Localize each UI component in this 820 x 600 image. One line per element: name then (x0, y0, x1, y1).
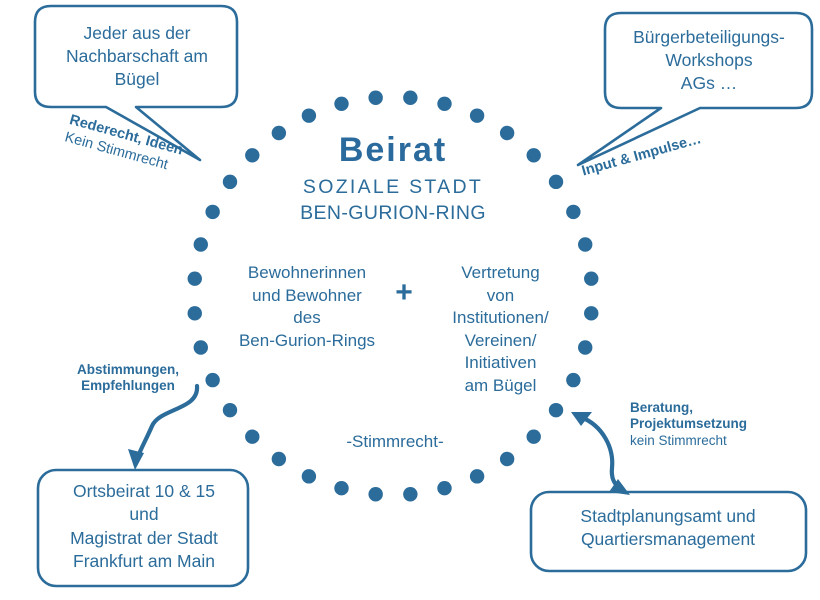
ring-dot (437, 481, 451, 495)
ring-dot (549, 403, 563, 417)
diagram-canvas: Jeder aus der Nachbarschaft am Bügel Red… (0, 0, 820, 600)
box-ortsbeirat-text: Ortsbeirat 10 & 15 und Magistrat der Sta… (46, 480, 242, 574)
ring-dot (584, 271, 598, 285)
arrow-abstimmungen (137, 386, 197, 459)
speech-bubble-top-right-text: Bürgerbeteiligungs- Workshops AGs … (610, 26, 808, 95)
ring-dot (584, 306, 598, 320)
ring-dot (302, 108, 316, 122)
ring-dot (470, 108, 484, 122)
ring-dot (566, 205, 580, 219)
plus-icon: + (390, 275, 418, 312)
ring-dot (205, 205, 219, 219)
ring-dot (549, 175, 563, 189)
ring-dot (194, 340, 208, 354)
ring-dot (245, 148, 259, 162)
ring-dot (403, 487, 417, 501)
ring-dot (527, 430, 541, 444)
ring-dot (188, 271, 202, 285)
annotation-input-impulse: Input & Impulse… (580, 119, 749, 181)
ring-dot (500, 126, 514, 140)
ring-dot (302, 469, 316, 483)
ring-dot (334, 481, 348, 495)
annotation-input-impulse-bold: Input & Impulse… (580, 119, 749, 181)
ring-dot (334, 97, 348, 111)
ring-dot (437, 97, 451, 111)
ring-dot (500, 452, 514, 466)
center-subtitle-soziale-stadt: SOZIALE STADT (273, 176, 513, 200)
center-column-vertretung: Vertretung von Institutionen/ Vereinen/ … (428, 262, 573, 398)
ring-dot (245, 430, 259, 444)
arrow-beratung-head-up (571, 412, 592, 426)
annotation-abstimmungen: Abstimmungen, Empfehlungen (48, 362, 208, 395)
annotation-beratung-normal: kein Stimmrecht (630, 433, 805, 449)
ring-dot (470, 469, 484, 483)
annotation-abstimmungen-bold: Abstimmungen, Empfehlungen (48, 362, 208, 395)
center-title: Beirat (293, 130, 493, 171)
ring-dot (223, 175, 237, 189)
center-column-bewohner: Bewohnerinnen und Bewohner des Ben-Gurio… (222, 262, 392, 352)
speech-bubble-top-left-text: Jeder aus der Nachbarschaft am Bügel (42, 22, 232, 91)
annotation-beratung: Beratung, Projektumsetzung kein Stimmrec… (630, 400, 805, 449)
ring-dot (368, 487, 382, 501)
annotation-rederecht: Rederecht, Ideen Kein Stimmrecht (63, 112, 227, 189)
box-stadtplanungsamt-text: Stadtplanungsamt und Quartiersmanagement (540, 505, 796, 552)
arrow-beratung-head-down (609, 479, 630, 495)
ring-dot (578, 340, 592, 354)
arrow-abstimmungen-head (128, 449, 144, 470)
ring-dot (403, 91, 417, 105)
center-footer-stimmrecht: -Stimmrecht- (325, 432, 465, 453)
ring-dot (194, 237, 208, 251)
arrow-beratung (581, 417, 619, 488)
ring-dot (188, 306, 202, 320)
ring-dot (272, 126, 286, 140)
ring-dot (368, 91, 382, 105)
annotation-beratung-bold: Beratung, Projektumsetzung (630, 400, 805, 433)
ring-dot (223, 403, 237, 417)
ring-dot (527, 148, 541, 162)
ring-dot (578, 237, 592, 251)
ring-dot (272, 452, 286, 466)
center-subtitle-ben-gurion-ring: BEN-GURION-RING (273, 202, 513, 226)
